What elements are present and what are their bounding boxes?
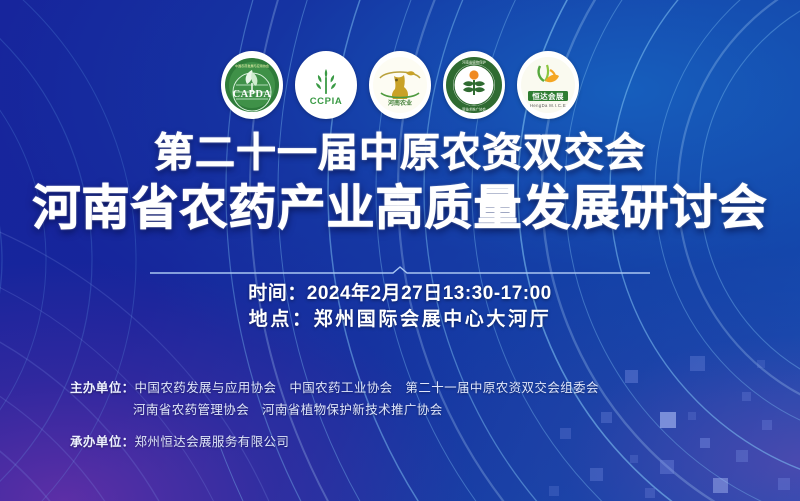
event-time-label: 时间： [248,283,307,304]
divider-ornament [150,264,650,278]
svg-text:CAPDA: CAPDA [233,89,272,100]
organizer-label: 承办单位： [70,435,135,449]
page-title-line1: 第二十一届中原农资双交会 [0,125,800,181]
event-location: 地点：郑州国际会展中心大河厅 [0,307,800,333]
svg-text:中国农药发展与应用协会: 中国农药发展与应用协会 [235,63,269,68]
henan-agriculture-logo: 河南农业 [369,51,431,119]
conference-poster: CAPDA 中国农药发展与应用协会 CCPIA [0,0,800,501]
hengda-mice-logo: 恒达会展 HengDa M.I.C.E [517,51,579,119]
plant-protection-logo: 河南省植物保护 新技术推广协会 [443,51,505,119]
event-location-value: 郑州国际会展中心大河厅 [314,309,552,330]
ccpia-logo: CCPIA [295,51,357,119]
organizer-value: 郑州恒达会展服务有限公司 [135,435,290,449]
svg-text:CCPIA: CCPIA [310,96,343,107]
organizer-line: 承办单位：郑州恒达会展服务有限公司 [70,431,730,453]
capda-logo: CAPDA 中国农药发展与应用协会 [221,51,283,119]
host-line-1: 主办单位：中国农药发展与应用协会 中国农药工业协会 第二十一届中原农资双交会组委… [70,377,730,399]
host-line-2: 河南省农药管理协会 河南省植物保护新技术推广协会 [70,399,730,421]
svg-text:河南农业: 河南农业 [388,99,412,107]
event-time: 时间：2024年2月27日13:30-17:00 [0,281,800,307]
event-location-label: 地点： [249,309,314,330]
svg-text:恒达会展: 恒达会展 [532,91,564,101]
credits-block: 主办单位：中国农药发展与应用协会 中国农药工业协会 第二十一届中原农资双交会组委… [70,377,730,453]
host-orgs-1: 中国农药发展与应用协会 中国农药工业协会 第二十一届中原农资双交会组委会 [135,381,599,395]
organizer-logo-row: CAPDA 中国农药发展与应用协会 CCPIA [0,50,800,120]
svg-text:新技术推广协会: 新技术推广协会 [462,107,486,112]
svg-text:HengDa M.I.C.E: HengDa M.I.C.E [530,103,566,108]
event-time-value: 2024年2月27日13:30-17:00 [307,283,552,304]
svg-text:河南省植物保护: 河南省植物保护 [462,60,486,65]
host-label: 主办单位： [70,381,135,395]
host-orgs-2: 河南省农药管理协会 河南省植物保护新技术推广协会 [133,403,443,417]
page-title-line2: 河南省农药产业高质量发展研讨会 [0,178,800,240]
